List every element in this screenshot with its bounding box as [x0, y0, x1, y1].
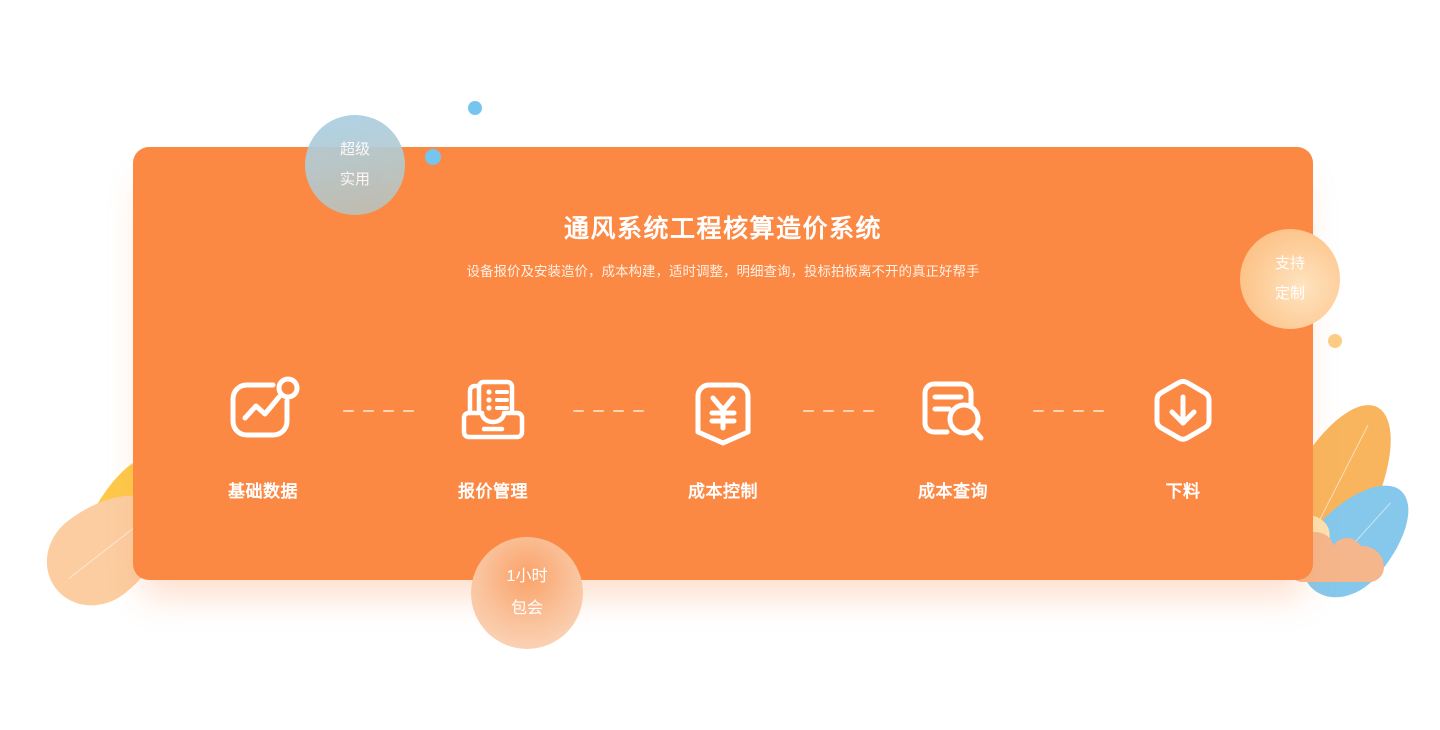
feature-item-basic-data[interactable]: 基础数据: [188, 365, 338, 502]
connector-dashes: [798, 410, 878, 412]
badge-line-1: 支持: [1275, 249, 1305, 279]
document-search-icon: [907, 365, 999, 457]
decorative-dot-blue-icon: [468, 101, 482, 115]
feature-label: 报价管理: [458, 477, 528, 502]
chart-square-icon: [217, 365, 309, 457]
badge-one-hour-mastery: 1小时 包会: [471, 537, 583, 649]
badge-line-2: 定制: [1275, 279, 1305, 309]
hexagon-download-icon: [1137, 365, 1229, 457]
feature-item-quote-management[interactable]: 报价管理: [418, 365, 568, 502]
badge-supports-customization: 支持 定制: [1240, 229, 1340, 329]
connector-dashes: [338, 410, 418, 412]
feature-item-cost-query[interactable]: 成本查询: [878, 365, 1028, 502]
badge-line-2: 包会: [511, 593, 543, 625]
inbox-documents-icon: [447, 365, 539, 457]
decorative-dot-amber-icon: [1328, 334, 1342, 348]
feature-item-material-cutting[interactable]: 下料: [1108, 365, 1258, 502]
page-root: 通风系统工程核算造价系统 设备报价及安装造价，成本构建，适时调整，明细查询，投标…: [0, 0, 1440, 730]
decorative-dot-blue-icon: [425, 149, 441, 165]
yuan-banner-icon: [677, 365, 769, 457]
feature-item-cost-control[interactable]: 成本控制: [648, 365, 798, 502]
feature-list: 基础数据: [133, 365, 1313, 502]
feature-label: 下料: [1166, 477, 1201, 502]
badge-line-2: 实用: [340, 165, 370, 195]
connector-dashes: [568, 410, 648, 412]
feature-label: 成本查询: [918, 477, 988, 502]
page-subtitle: 设备报价及安装造价，成本构建，适时调整，明细查询，投标拍板离不开的真正好帮手: [463, 260, 983, 284]
badge-line-1: 超级: [340, 135, 370, 165]
connector-dashes: [1028, 410, 1108, 412]
badge-super-practical: 超级 实用: [305, 115, 405, 215]
feature-label: 基础数据: [228, 477, 298, 502]
badge-line-1: 1小时: [507, 561, 548, 593]
promo-panel: 通风系统工程核算造价系统 设备报价及安装造价，成本构建，适时调整，明细查询，投标…: [133, 147, 1313, 580]
page-title: 通风系统工程核算造价系统: [133, 209, 1313, 245]
feature-label: 成本控制: [688, 477, 758, 502]
